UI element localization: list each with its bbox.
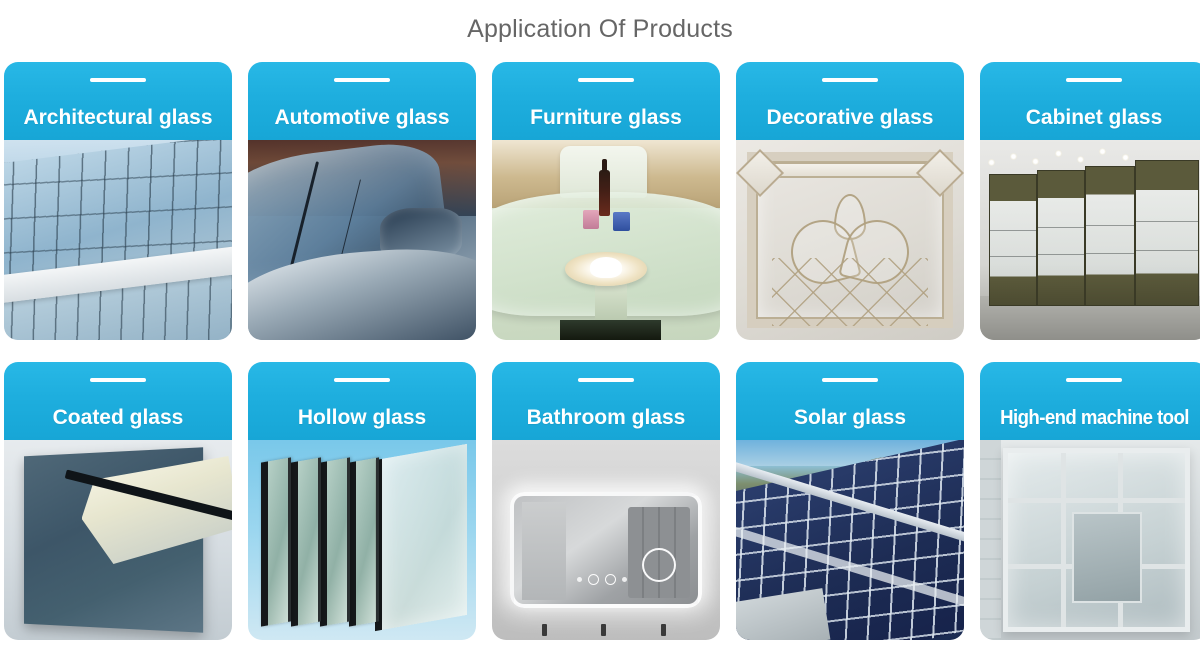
card-title: Bathroom glass — [527, 406, 686, 429]
card-title: Solar glass — [794, 406, 906, 429]
card-header: Hollow glass — [248, 362, 476, 440]
header-divider-rule — [90, 78, 146, 82]
header-divider-rule — [822, 78, 878, 82]
header-divider-rule — [578, 378, 634, 382]
card-bathroom-glass[interactable]: Bathroom glass — [492, 362, 720, 640]
card-photo-car-windshield-and-hood — [248, 140, 476, 340]
card-photo-leaded-bevel-decorative-panel — [736, 140, 964, 340]
card-photo-glass-dining-table-set — [492, 140, 720, 340]
card-title: Furniture glass — [530, 106, 682, 129]
card-photo-photovoltaic-solar-panel-array — [736, 440, 964, 640]
card-header: Automotive glass — [248, 62, 476, 140]
mirror-touch-button — [642, 548, 676, 582]
header-divider-rule — [90, 378, 146, 382]
card-title: Decorative glass — [767, 106, 934, 129]
card-header: High-end machine tool — [980, 362, 1200, 440]
card-coated-glass[interactable]: Coated glass — [4, 362, 232, 640]
card-photo-tinted-reflective-coated-pane — [4, 440, 232, 640]
header-divider-rule — [822, 378, 878, 382]
card-solar-glass[interactable]: Solar glass — [736, 362, 964, 640]
card-header: Coated glass — [4, 362, 232, 440]
header-divider-rule — [1066, 78, 1122, 82]
card-automotive-glass[interactable]: Automotive glass — [248, 62, 476, 340]
card-header: Solar glass — [736, 362, 964, 440]
card-title: Cabinet glass — [1026, 106, 1163, 129]
header-divider-rule — [334, 78, 390, 82]
product-application-grid: Architectural glass Automotive glass — [4, 62, 1196, 640]
card-header: Furniture glass — [492, 62, 720, 140]
card-decorative-glass[interactable]: Decorative glass — [736, 62, 964, 340]
card-title: Hollow glass — [298, 406, 426, 429]
card-header: Decorative glass — [736, 62, 964, 140]
card-photo-machine-tool-glass-enclosure — [980, 440, 1200, 640]
application-of-products-page: Application Of Products Architectural gl… — [0, 0, 1200, 655]
card-cabinet-glass[interactable]: Cabinet glass — [980, 62, 1200, 340]
card-title: Automotive glass — [274, 106, 449, 129]
card-header: Cabinet glass — [980, 62, 1200, 140]
grid-row-2: Coated glass Hollow glass — [4, 362, 1196, 640]
card-photo-backlit-led-bathroom-mirror — [492, 440, 720, 640]
header-divider-rule — [334, 378, 390, 382]
header-divider-rule — [578, 78, 634, 82]
card-title: Architectural glass — [23, 106, 212, 129]
card-title: Coated glass — [53, 406, 184, 429]
card-header: Architectural glass — [4, 62, 232, 140]
card-furniture-glass[interactable]: Furniture glass — [492, 62, 720, 340]
card-high-end-machine-tool[interactable]: High-end machine tool — [980, 362, 1200, 640]
card-header: Bathroom glass — [492, 362, 720, 440]
page-title: Application Of Products — [0, 0, 1200, 42]
card-photo-stacked-insulating-glass-units — [248, 440, 476, 640]
card-photo-glass-display-cabinets — [980, 140, 1200, 340]
card-hollow-glass[interactable]: Hollow glass — [248, 362, 476, 640]
grid-row-1: Architectural glass Automotive glass — [4, 62, 1196, 340]
header-divider-rule — [1066, 378, 1122, 382]
card-architectural-glass[interactable]: Architectural glass — [4, 62, 232, 340]
card-title: High-end machine tool — [1000, 407, 1189, 429]
card-photo-glass-curtain-wall-building — [4, 140, 232, 340]
